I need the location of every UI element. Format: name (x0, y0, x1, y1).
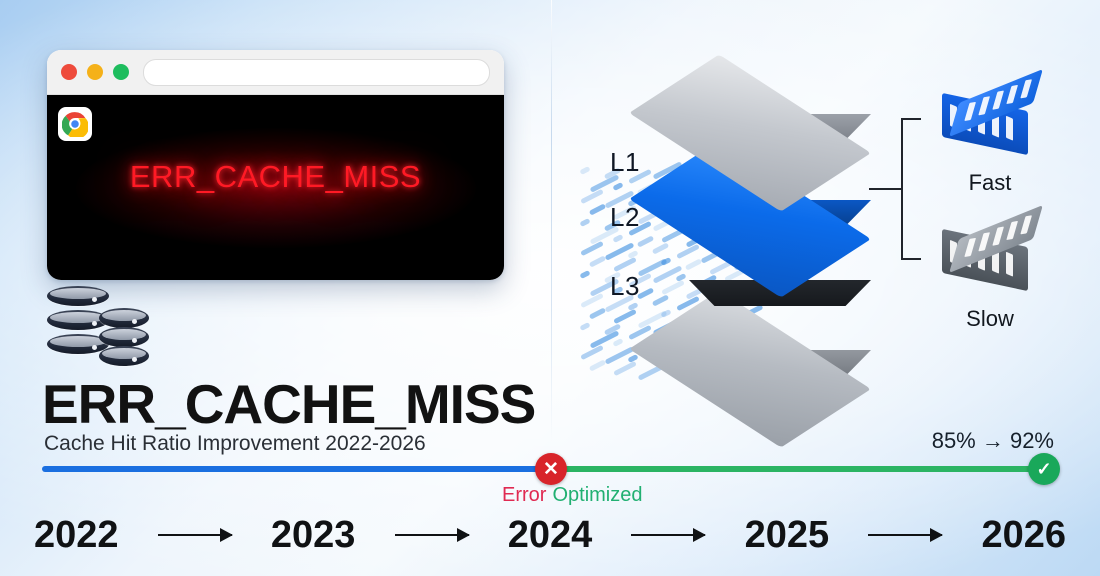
speed-bracket (885, 118, 919, 260)
timeline-status-labels: ErrorOptimized (502, 484, 642, 507)
status-label-error: Error (502, 484, 546, 506)
timeline-arrow-icon (158, 534, 232, 536)
success-marker-icon[interactable]: ✓ (1028, 453, 1060, 485)
status-label-optimized: Optimized (552, 484, 642, 506)
database-stack-icon (99, 308, 149, 360)
fast-server-icon (936, 86, 1040, 158)
timeline-year-2022: 2022 (34, 514, 119, 557)
timeline-segment-error (42, 466, 551, 472)
page-subtitle: Cache Hit Ratio Improvement 2022-2026 (44, 432, 426, 456)
cache-layer-label-l2: L2 (610, 202, 640, 233)
error-marker-icon[interactable]: ✕ (535, 453, 567, 485)
maximize-button-icon[interactable] (113, 64, 129, 80)
url-input[interactable] (143, 59, 490, 86)
timeline-year-2023: 2023 (271, 514, 356, 557)
chrome-icon (58, 107, 92, 141)
timeline-segment-optimized (551, 466, 1050, 472)
panel-divider (551, 0, 552, 442)
timeline-arrow-icon (868, 534, 942, 536)
infographic-canvas: ERR_CACHE_MISS L1 L2 L3 (0, 0, 1100, 576)
cache-layer-label-l1: L1 (610, 147, 640, 178)
cache-slab-l1 (675, 58, 885, 180)
browser-titlebar (47, 50, 504, 95)
minimize-button-icon[interactable] (87, 64, 103, 80)
timeline-arrow-icon (631, 534, 705, 536)
timeline-year-2026: 2026 (981, 514, 1066, 557)
cache-layer-diagram: L1 L2 L3 (580, 50, 920, 380)
timeline-years: 2022 2023 2024 2025 2026 (34, 505, 1066, 565)
slow-server-icon (936, 222, 1040, 294)
slow-server-label: Slow (920, 306, 1060, 332)
timeline-year-2025: 2025 (745, 514, 830, 557)
browser-viewport: ERR_CACHE_MISS (47, 95, 504, 280)
fast-server-label: Fast (920, 170, 1060, 196)
browser-window: ERR_CACHE_MISS (47, 50, 504, 280)
database-icons (47, 286, 157, 356)
cache-layer-label-l3: L3 (610, 271, 640, 302)
browser-error-text: ERR_CACHE_MISS (47, 159, 504, 195)
timeline-year-2024: 2024 (508, 514, 593, 557)
kpi-improvement: 85% → 92% (932, 428, 1054, 454)
timeline-arrow-icon (395, 534, 469, 536)
window-controls (61, 64, 129, 80)
close-button-icon[interactable] (61, 64, 77, 80)
page-title: ERR_CACHE_MISS (42, 372, 535, 436)
